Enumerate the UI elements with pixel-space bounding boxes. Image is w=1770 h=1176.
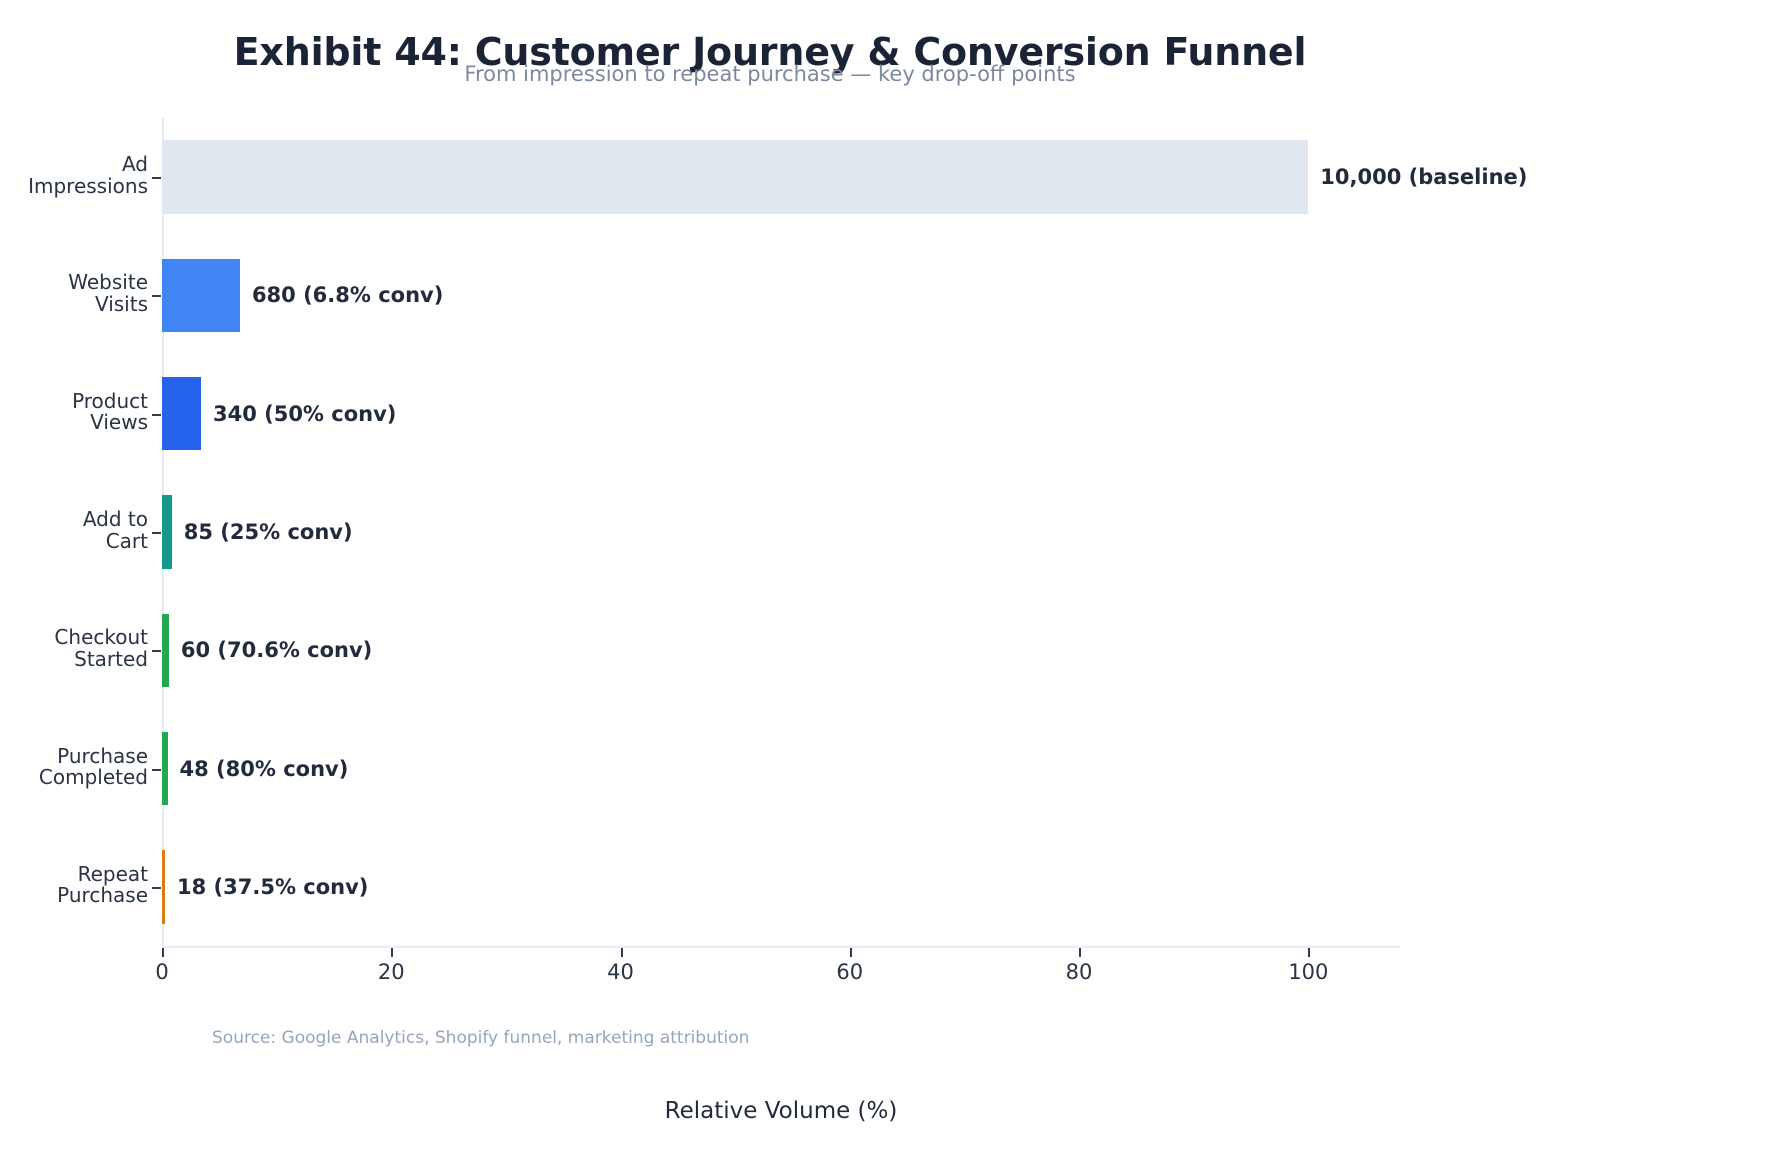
x-tick-label: 80 [1066,960,1093,984]
x-tick-mark [850,948,852,957]
y-axis-label-line2: Purchase [57,885,148,907]
bar-6[interactable] [162,732,168,805]
x-tick-label: 60 [836,960,863,984]
bar-row: 340 (50% conv) [162,377,1400,450]
y-tick-mark [152,177,161,179]
chart-page: Exhibit 44: Customer Journey & Conversio… [0,0,1770,1176]
y-axis-label-line2: Completed [39,767,148,789]
y-axis-label-line2: Started [54,649,148,671]
y-axis-label-line1: Ad [28,154,148,176]
y-axis-label-line1: Repeat [57,864,148,886]
bar-row: 10,000 (baseline) [162,140,1400,213]
x-tick-label: 100 [1288,960,1328,984]
y-axis-label-line2: Cart [83,531,148,553]
bar-value-label: 48 (80% conv) [180,757,349,781]
y-tick-mark [152,532,161,534]
y-tick-mark [152,650,161,652]
bar-row: 85 (25% conv) [162,495,1400,568]
y-tick-mark [152,295,161,297]
y-axis-tick-labels: AdImpressionsWebsiteVisitsProductViewsAd… [0,118,148,946]
bar-value-label: 340 (50% conv) [213,402,396,426]
x-tick-label: 0 [155,960,168,984]
x-axis-spine [162,946,1400,948]
bar-row: 48 (80% conv) [162,732,1400,805]
y-axis-label-line1: Add to [83,509,148,531]
bar-value-label: 680 (6.8% conv) [252,283,443,307]
bar-row: 60 (70.6% conv) [162,614,1400,687]
chart-subtitle: From impression to repeat purchase — key… [0,62,1540,86]
y-axis-label-5: CheckoutStarted [54,627,148,670]
x-tick-mark [1079,948,1081,957]
x-tick-mark [391,948,393,957]
y-axis-label-line2: Visits [68,294,148,316]
bar-2[interactable] [162,259,240,332]
y-axis-label-1: AdImpressions [28,154,148,197]
y-axis-label-3: ProductViews [72,391,148,434]
x-tick-label: 40 [607,960,634,984]
x-tick-mark [621,948,623,957]
y-axis-label-line1: Checkout [54,627,148,649]
bar-3[interactable] [162,377,201,450]
y-axis-label-line1: Website [68,272,148,294]
y-axis-label-4: Add toCart [83,509,148,552]
plot-area: 10,000 (baseline)680 (6.8% conv)340 (50%… [162,118,1400,946]
bar-value-label: 85 (25% conv) [184,520,353,544]
bar-1[interactable] [162,140,1308,213]
bar-row: 680 (6.8% conv) [162,259,1400,332]
y-axis-label-line1: Product [72,391,148,413]
y-axis-label-line2: Impressions [28,176,148,198]
bar-5[interactable] [162,614,169,687]
y-axis-label-6: PurchaseCompleted [39,746,148,789]
y-tick-mark [152,769,161,771]
x-tick-mark [1308,948,1310,957]
bar-7[interactable] [162,850,165,923]
y-axis-label-7: RepeatPurchase [57,864,148,907]
bar-value-label: 18 (37.5% conv) [177,875,368,899]
bar-4[interactable] [162,495,172,568]
y-axis-label-2: WebsiteVisits [68,272,148,315]
bar-row: 18 (37.5% conv) [162,850,1400,923]
x-tick-mark [162,948,164,957]
x-axis-title: Relative Volume (%) [162,1098,1400,1124]
x-tick-label: 20 [378,960,405,984]
bar-value-label: 60 (70.6% conv) [181,638,372,662]
y-tick-mark [152,414,161,416]
y-tick-mark [152,887,161,889]
y-axis-label-line1: Purchase [39,746,148,768]
source-note: Source: Google Analytics, Shopify funnel… [212,1028,749,1048]
y-axis-label-line2: Views [72,412,148,434]
bar-value-label: 10,000 (baseline) [1320,165,1527,189]
